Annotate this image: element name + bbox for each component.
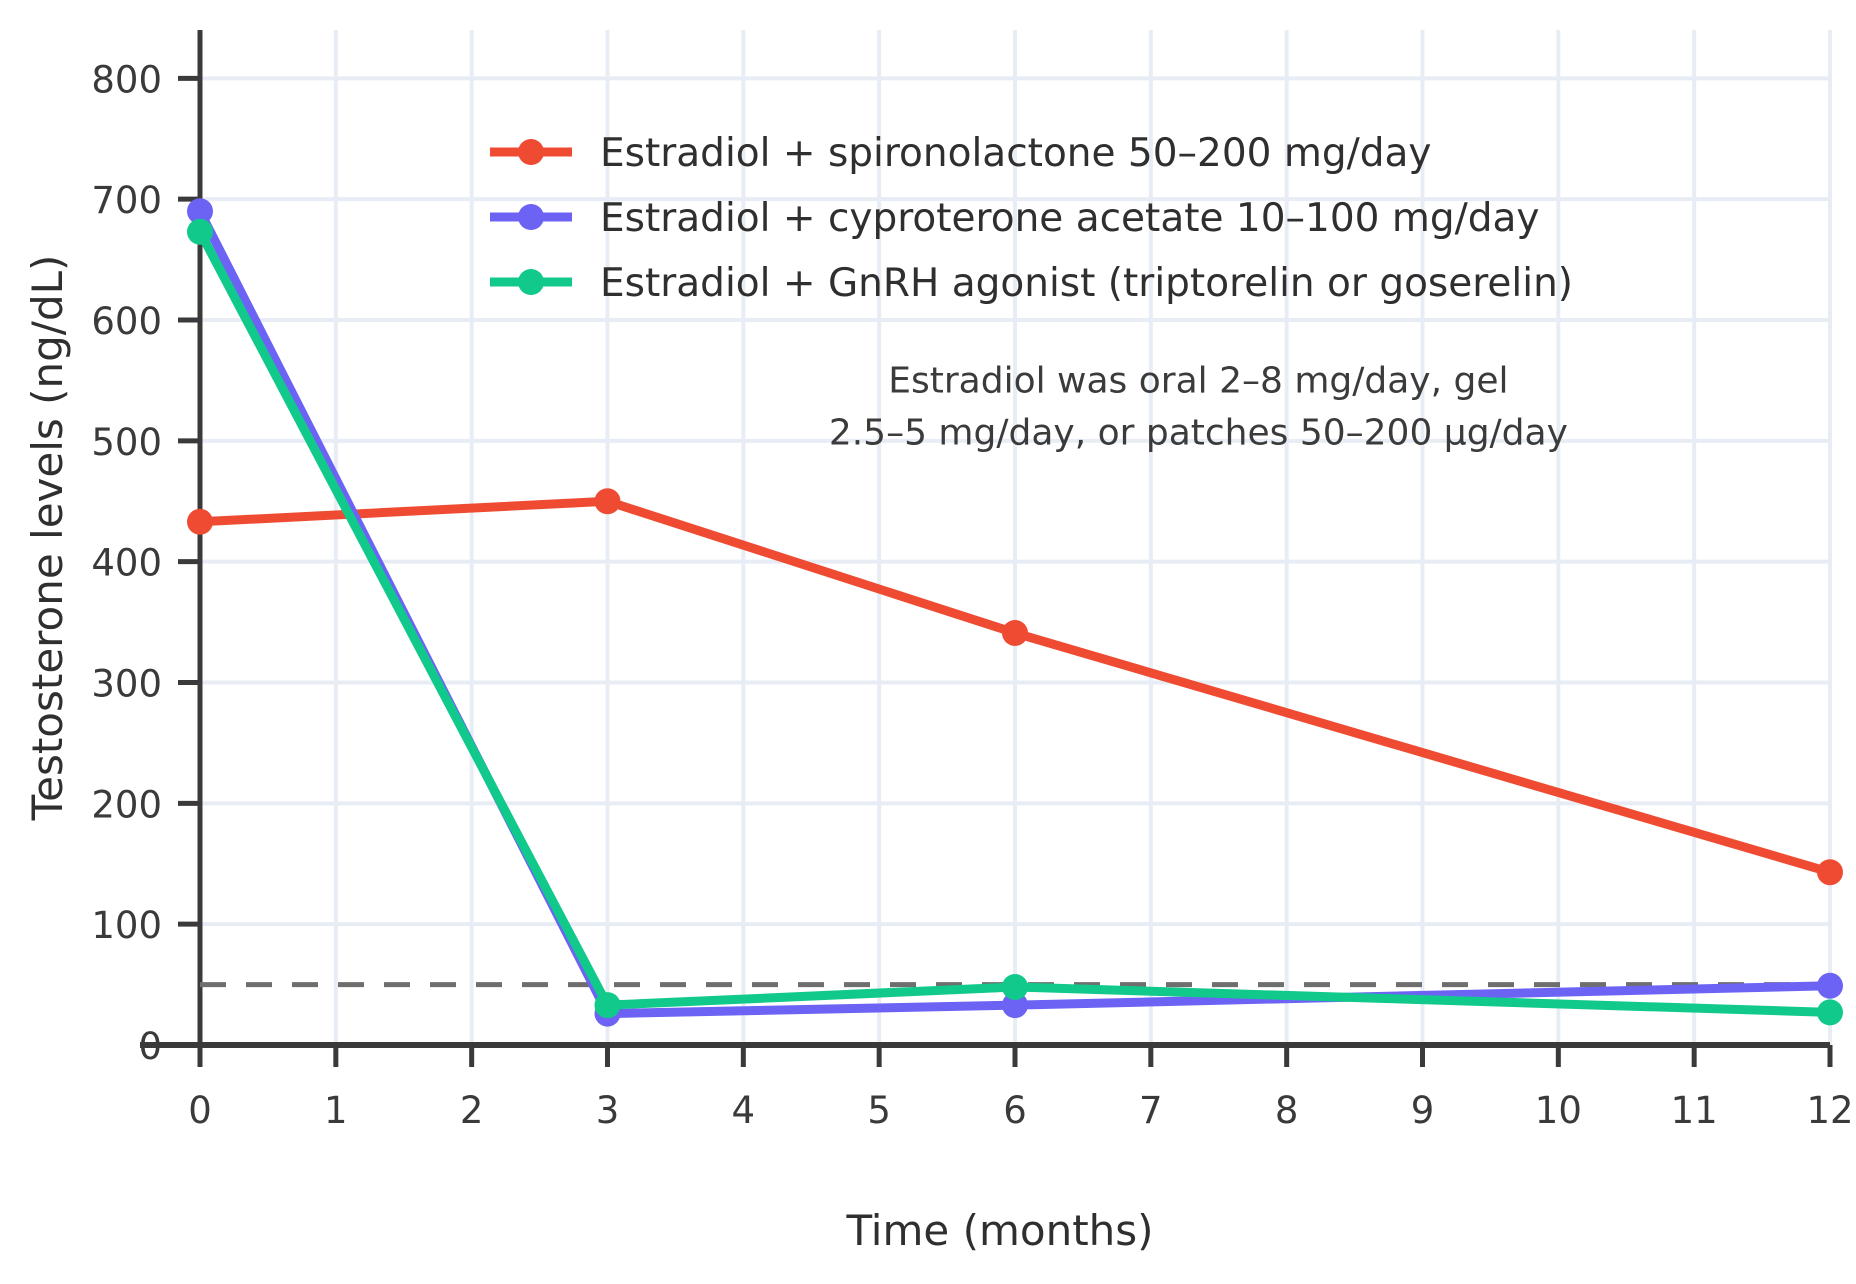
data-point <box>1002 620 1028 646</box>
data-point <box>1817 999 1843 1025</box>
legend-label: Estradiol + GnRH agonist (triptorelin or… <box>600 261 1573 306</box>
testosterone-levels-line-chart: 0100200300400500600700800 01234567891011… <box>0 0 1856 1284</box>
y-tick-label: 400 <box>91 542 162 585</box>
y-axis-title: Testosterone levels (ng/dL) <box>23 255 72 822</box>
chart-canvas: 0100200300400500600700800 01234567891011… <box>0 0 1856 1284</box>
legend-label: Estradiol + spironolactone 50–200 mg/day <box>600 131 1432 176</box>
annotation-text-line: Estradiol was oral 2–8 mg/day, gel <box>888 361 1508 402</box>
legend-swatch-marker <box>518 139 544 165</box>
x-tick-label: 8 <box>1275 1089 1299 1132</box>
x-tick-label: 2 <box>460 1089 484 1132</box>
y-tick-label: 700 <box>91 179 162 222</box>
x-tick-label: 4 <box>732 1089 756 1132</box>
y-tick-label: 100 <box>91 904 162 947</box>
x-tick-label: 11 <box>1671 1089 1718 1132</box>
y-tick-label: 800 <box>91 58 162 101</box>
data-point <box>1817 859 1843 885</box>
data-point <box>187 509 213 535</box>
annotation-text-line: 2.5–5 mg/day, or patches 50–200 µg/day <box>829 413 1568 454</box>
x-tick-label: 7 <box>1139 1089 1163 1132</box>
x-tick-label: 9 <box>1411 1089 1435 1132</box>
data-point <box>595 992 621 1018</box>
legend-swatch-marker <box>518 204 544 230</box>
data-point <box>1002 974 1028 1000</box>
legend-item-0: Estradiol + spironolactone 50–200 mg/day <box>490 131 1432 176</box>
chart-legend: Estradiol + spironolactone 50–200 mg/day… <box>490 131 1573 306</box>
y-tick-label: 500 <box>91 421 162 464</box>
y-tick-label: 600 <box>91 300 162 343</box>
y-axis-tick-labels: 0100200300400500600700800 <box>91 58 162 1068</box>
y-tick-label: 300 <box>91 663 162 706</box>
x-axis-title: Time (months) <box>845 1206 1153 1255</box>
legend-swatch-marker <box>518 269 544 295</box>
x-tick-label: 6 <box>1003 1089 1027 1132</box>
y-tick-label: 200 <box>91 783 162 826</box>
x-tick-label: 5 <box>867 1089 891 1132</box>
x-tick-label: 3 <box>596 1089 620 1132</box>
x-tick-label: 1 <box>324 1089 348 1132</box>
data-point <box>595 488 621 514</box>
legend-label: Estradiol + cyproterone acetate 10–100 m… <box>600 196 1540 241</box>
data-point <box>187 219 213 245</box>
legend-item-1: Estradiol + cyproterone acetate 10–100 m… <box>490 196 1540 241</box>
x-tick-label: 0 <box>188 1089 212 1132</box>
data-point <box>1817 973 1843 999</box>
x-tick-label: 10 <box>1535 1089 1582 1132</box>
legend-item-2: Estradiol + GnRH agonist (triptorelin or… <box>490 261 1573 306</box>
x-tick-label: 12 <box>1806 1089 1853 1132</box>
